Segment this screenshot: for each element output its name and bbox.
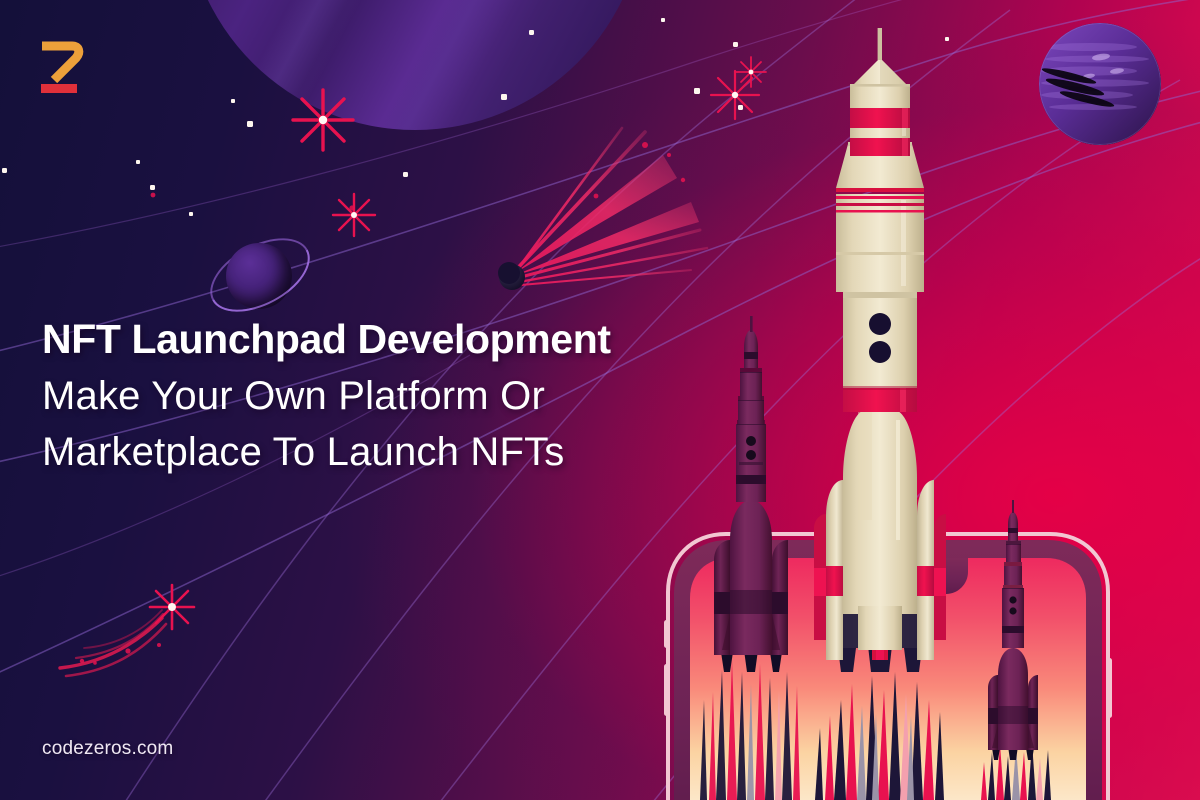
main-rocket	[814, 28, 946, 800]
exhaust-trails	[815, 672, 944, 800]
left-rocket	[700, 316, 800, 800]
right-rocket	[981, 500, 1051, 800]
exhaust-trails	[700, 660, 800, 800]
nft-launchpad-banner: NFT Launchpad Development Make Your Own …	[0, 0, 1200, 800]
rockets-layer	[0, 0, 1200, 800]
